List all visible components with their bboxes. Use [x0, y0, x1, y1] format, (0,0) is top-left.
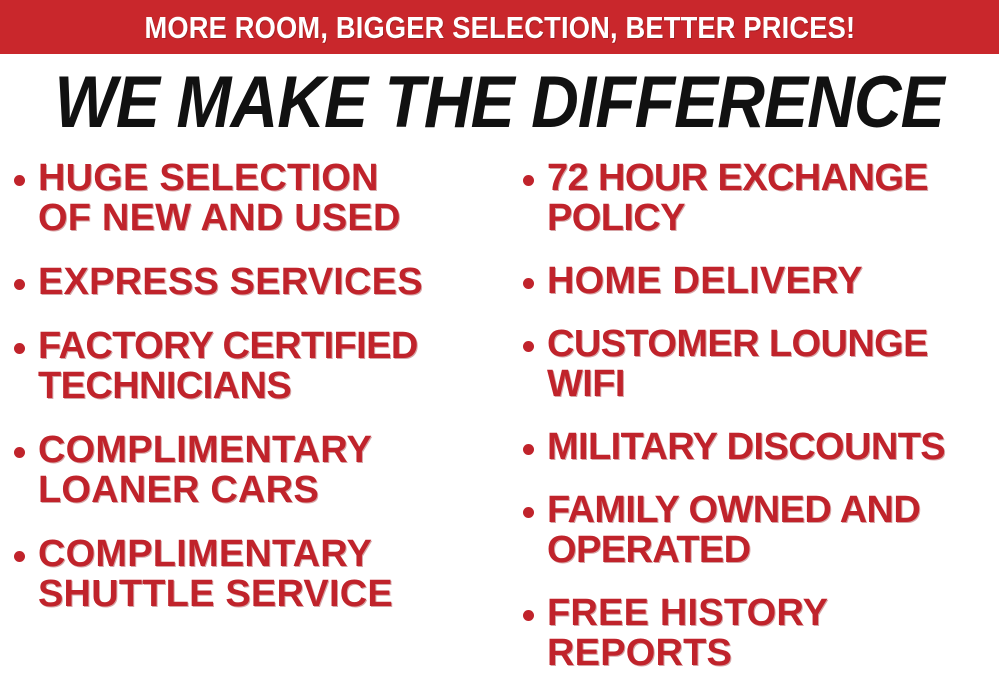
list-item: 72 HOUR EXCHANGE POLICY: [523, 158, 999, 238]
list-item: FAMILY OWNED AND OPERATED: [523, 490, 999, 570]
bullet-dot-icon: [523, 341, 534, 352]
list-item: EXPRESS SERVICES: [14, 262, 505, 302]
list-item-label: EXPRESS SERVICES: [38, 262, 423, 302]
list-item: FACTORY CERTIFIED TECHNICIANS: [14, 326, 505, 406]
bullet-dot-icon: [523, 507, 534, 518]
feature-column-right: 72 HOUR EXCHANGE POLICY HOME DELIVERY CU…: [505, 158, 999, 692]
list-item-label: FACTORY CERTIFIED TECHNICIANS: [38, 326, 418, 406]
list-item-label: MILITARY DISCOUNTS: [547, 427, 945, 467]
bullet-dot-icon: [523, 175, 534, 186]
list-item-label: COMPLIMENTARY SHUTTLE SERVICE: [38, 534, 393, 614]
advertisement-banner: MORE ROOM, BIGGER SELECTION, BETTER PRIC…: [0, 0, 999, 692]
feature-columns: HUGE SELECTION OF NEW AND USED EXPRESS S…: [0, 158, 999, 692]
bullet-dot-icon: [14, 343, 25, 354]
list-item: CUSTOMER LOUNGE WIFI: [523, 324, 999, 404]
headline: WE MAKE THE DIFFERENCE: [0, 66, 999, 137]
top-promo-banner: MORE ROOM, BIGGER SELECTION, BETTER PRIC…: [0, 0, 999, 54]
feature-column-left: HUGE SELECTION OF NEW AND USED EXPRESS S…: [0, 158, 505, 638]
bullet-dot-icon: [14, 551, 25, 562]
top-promo-banner-text: MORE ROOM, BIGGER SELECTION, BETTER PRIC…: [144, 12, 855, 43]
bullet-dot-icon: [523, 278, 534, 289]
list-item-label: HUGE SELECTION OF NEW AND USED: [38, 158, 401, 238]
list-item-label: 72 HOUR EXCHANGE POLICY: [547, 158, 928, 238]
list-item: FREE HISTORY REPORTS: [523, 593, 999, 673]
list-item: HOME DELIVERY: [523, 261, 999, 301]
list-item-label: COMPLIMENTARY LOANER CARS: [38, 430, 372, 510]
bullet-dot-icon: [523, 610, 534, 621]
headline-text: WE MAKE THE DIFFERENCE: [55, 66, 944, 139]
list-item-label: HOME DELIVERY: [547, 261, 863, 301]
list-item: HUGE SELECTION OF NEW AND USED: [14, 158, 505, 238]
bullet-dot-icon: [14, 175, 25, 186]
list-item-label: FAMILY OWNED AND OPERATED: [547, 490, 920, 570]
list-item-label: FREE HISTORY REPORTS: [547, 593, 828, 673]
list-item: MILITARY DISCOUNTS: [523, 427, 999, 467]
bullet-dot-icon: [14, 447, 25, 458]
list-item: COMPLIMENTARY LOANER CARS: [14, 430, 505, 510]
bullet-dot-icon: [523, 444, 534, 455]
bullet-dot-icon: [14, 279, 25, 290]
list-item-label: CUSTOMER LOUNGE WIFI: [547, 324, 928, 404]
list-item: COMPLIMENTARY SHUTTLE SERVICE: [14, 534, 505, 614]
